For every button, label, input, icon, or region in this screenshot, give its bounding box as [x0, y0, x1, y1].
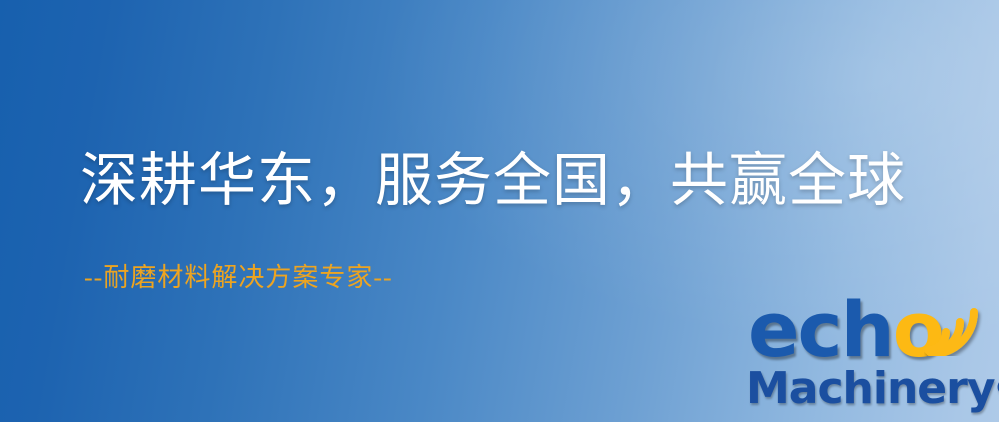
registered-trademark-icon: ® — [995, 376, 999, 401]
logo-subtext: Machinery® — [746, 366, 999, 412]
logo-wordmark-prefix: ech — [748, 285, 893, 374]
signal-waves-icon — [924, 290, 996, 356]
logo-wordmark: echo — [748, 292, 943, 368]
banner-headline: 深耕华东，服务全国，共赢全球 — [80, 152, 906, 210]
banner-subtitle: --耐磨材料解决方案专家-- — [84, 265, 393, 291]
company-logo: echo Machinery® — [742, 292, 994, 418]
hero-banner: 深耕华东，服务全国，共赢全球 --耐磨材料解决方案专家-- echo Machi… — [0, 0, 999, 422]
logo-subtext-label: Machinery — [746, 363, 995, 414]
